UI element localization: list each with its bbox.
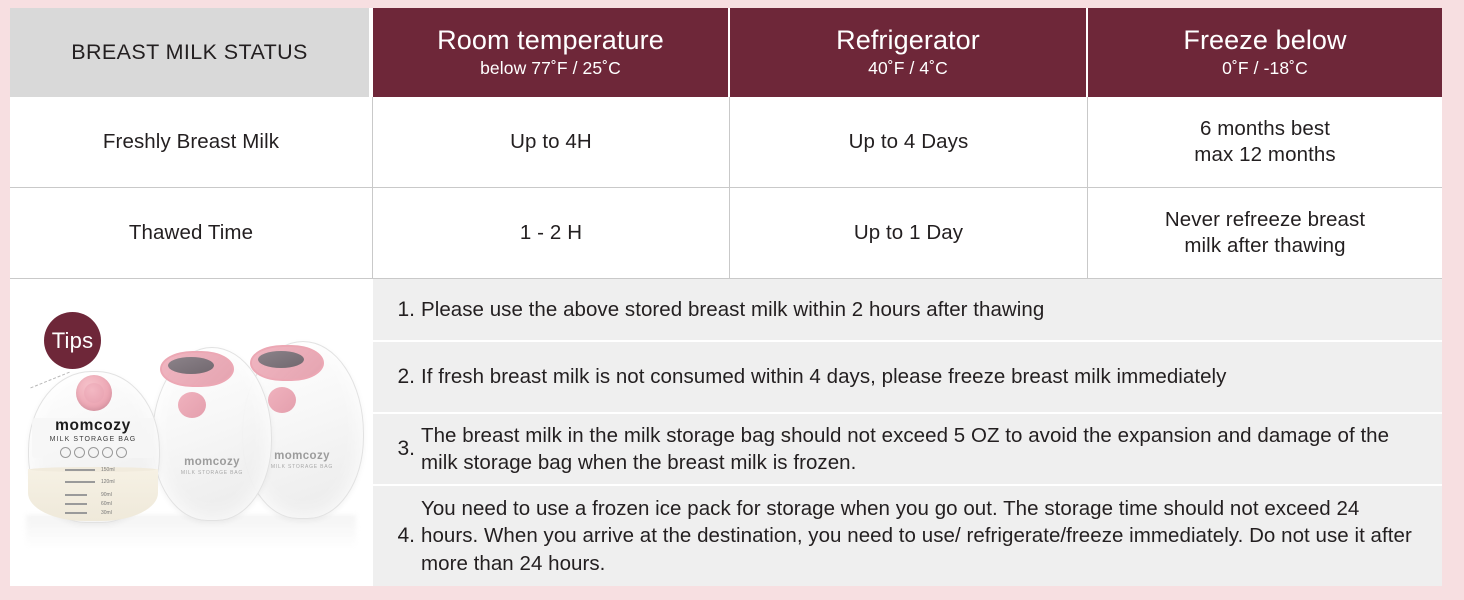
- product-image-panel: momcozy MILK STORAGE BAG momcozy MILK ST…: [10, 279, 373, 586]
- cell-thawed-freeze-line1: Never refreeze breast: [1165, 207, 1365, 233]
- content-panel: BREAST MILK STATUS Room temperature belo…: [10, 8, 1442, 586]
- header-title-freeze-below: Freeze below: [1183, 26, 1346, 55]
- list-item: 4. You need to use a frozen ice pack for…: [373, 486, 1442, 586]
- scale-tick: [65, 512, 87, 514]
- scale-label: 150ml: [101, 467, 115, 473]
- brand-text-back: momcozy: [250, 451, 354, 463]
- scale-label: 90ml: [101, 492, 112, 498]
- tips-badge: Tips: [44, 312, 101, 369]
- cert-presterilized-icon: [88, 447, 99, 458]
- breast-milk-storage-table: BREAST MILK STATUS Room temperature belo…: [10, 8, 1442, 279]
- cell-thawed-fridge: Up to 1 Day: [730, 188, 1088, 278]
- cell-thawed-fridge-text: Up to 1 Day: [854, 220, 963, 246]
- cell-freshly-freeze-line2: max 12 months: [1194, 142, 1335, 168]
- brand-sub-text-front: MILK STORAGE BAG: [50, 436, 137, 443]
- table-row: Freshly Breast Milk Up to 4H Up to 4 Day…: [10, 97, 1442, 188]
- brand-text-front: momcozy: [55, 418, 131, 434]
- tips-section: momcozy MILK STORAGE BAG momcozy MILK ST…: [10, 279, 1442, 586]
- tip-number: 3.: [395, 437, 421, 461]
- list-item: 3. The breast milk in the milk storage b…: [373, 414, 1442, 486]
- tips-list: 1. Please use the above stored breast mi…: [373, 279, 1442, 586]
- brand-label-back: momcozy MILK STORAGE BAG: [250, 451, 354, 470]
- pump-horn-inner-middle-icon: [168, 357, 214, 374]
- cert-freezer-safe-icon: [74, 447, 85, 458]
- tip-text: The breast milk in the milk storage bag …: [421, 422, 1420, 477]
- scale-tick: [65, 503, 87, 505]
- pump-motor-middle-icon: [178, 392, 206, 418]
- cert-bpa-free-icon: [60, 447, 71, 458]
- tip-text: If fresh breast milk is not consumed wit…: [421, 363, 1226, 390]
- scale-tick: [65, 494, 87, 496]
- cell-thawed-freeze-line2: milk after thawing: [1184, 233, 1345, 259]
- pump-motor-back-icon: [268, 387, 296, 413]
- table-row: Thawed Time 1 - 2 H Up to 1 Day Never re…: [10, 188, 1442, 279]
- scale-tick: [65, 481, 95, 483]
- header-subtitle-room-temperature: below 77˚F / 25˚C: [480, 58, 621, 79]
- brand-label-middle: momcozy MILK STORAGE BAG: [160, 457, 264, 476]
- tip-number: 4.: [395, 524, 421, 548]
- pink-frame: BREAST MILK STATUS Room temperature belo…: [0, 0, 1464, 600]
- tip-text: You need to use a frozen ice pack for st…: [421, 495, 1420, 577]
- list-item: 1. Please use the above stored breast mi…: [373, 279, 1442, 342]
- cert-recyclable-icon: [116, 447, 127, 458]
- cert-no-leak-icon: [102, 447, 113, 458]
- scale-label: 120ml: [101, 479, 115, 485]
- cell-freshly-room: Up to 4H: [373, 97, 730, 187]
- table-header-row: BREAST MILK STATUS Room temperature belo…: [10, 8, 1442, 97]
- header-cell-room-temperature: Room temperature below 77˚F / 25˚C: [373, 8, 730, 97]
- header-cell-refrigerator: Refrigerator 40˚F / 4˚C: [730, 8, 1088, 97]
- page-title: BREAST MILK STATUS: [71, 40, 308, 65]
- cell-freshly-freeze-line1: 6 months best: [1200, 116, 1330, 142]
- bag-cap-inner-icon: [84, 383, 104, 403]
- header-subtitle-freeze-below: 0˚F / -18˚C: [1222, 58, 1308, 79]
- header-title-refrigerator: Refrigerator: [836, 26, 980, 55]
- cell-thawed-freeze: Never refreeze breast milk after thawing: [1088, 188, 1442, 278]
- cell-freshly-freeze: 6 months best max 12 months: [1088, 97, 1442, 187]
- brand-text-middle: momcozy: [160, 457, 264, 469]
- front-bag-label: momcozy MILK STORAGE BAG: [32, 418, 154, 458]
- brand-sub-text-back: MILK STORAGE BAG: [250, 465, 354, 470]
- header-title-room-temperature: Room temperature: [437, 26, 664, 55]
- pump-horn-inner-back-icon: [258, 351, 304, 368]
- volume-scale: 150ml 120ml 90ml 60ml 30ml: [65, 467, 135, 517]
- tip-number: 1.: [395, 299, 421, 320]
- row-label-thawed-time: Thawed Time: [10, 188, 373, 278]
- header-subtitle-refrigerator: 40˚F / 4˚C: [868, 58, 948, 79]
- cell-freshly-fridge: Up to 4 Days: [730, 97, 1088, 187]
- certification-icons: [60, 447, 127, 458]
- row-label-freshly-breast-milk: Freshly Breast Milk: [10, 97, 373, 187]
- tips-badge-label: Tips: [52, 328, 94, 354]
- brand-sub-text-middle: MILK STORAGE BAG: [160, 471, 264, 476]
- header-cell-status: BREAST MILK STATUS: [10, 8, 373, 97]
- tip-number: 2.: [395, 365, 421, 389]
- list-item: 2. If fresh breast milk is not consumed …: [373, 342, 1442, 414]
- cell-thawed-room: 1 - 2 H: [373, 188, 730, 278]
- header-cell-freeze-below: Freeze below 0˚F / -18˚C: [1088, 8, 1442, 97]
- scale-tick: [65, 469, 95, 471]
- scale-label: 30ml: [101, 510, 112, 516]
- cell-freshly-fridge-text: Up to 4 Days: [849, 129, 969, 155]
- tip-text: Please use the above stored breast milk …: [421, 296, 1044, 323]
- scale-label: 60ml: [101, 501, 112, 507]
